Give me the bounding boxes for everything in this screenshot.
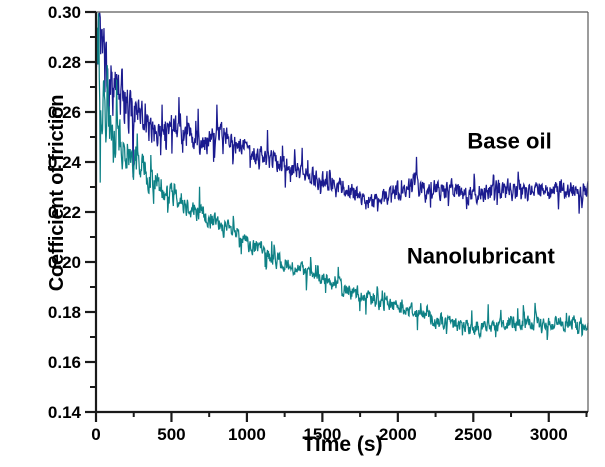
tick-label-layer: 0.140.160.180.200.220.240.260.280.300500…	[48, 3, 568, 444]
series-label-base-oil: Base oil	[467, 128, 551, 153]
x-tick-label: 2000	[379, 425, 417, 444]
y-tick-label: 0.20	[48, 253, 81, 272]
y-tick-label: 0.28	[48, 53, 81, 72]
axis-layer	[85, 12, 588, 422]
chart-svg: 0.140.160.180.200.220.240.260.280.300500…	[0, 0, 605, 467]
series-layer	[96, 13, 588, 340]
series-nanolubricant	[96, 13, 588, 340]
x-tick-label: 3000	[530, 425, 568, 444]
y-tick-label: 0.16	[48, 353, 81, 372]
figure-canvas: Coefficient of friction Time (s) 0.140.1…	[0, 0, 605, 467]
y-tick-label: 0.30	[48, 3, 81, 22]
x-tick-label: 1000	[228, 425, 266, 444]
y-tick-label: 0.24	[48, 153, 82, 172]
series-label-nanolubricant: Nanolubricant	[407, 243, 556, 268]
y-tick-label: 0.26	[48, 103, 81, 122]
plot-area: 0.140.160.180.200.220.240.260.280.300500…	[0, 0, 605, 467]
series-base-oil	[96, 13, 588, 213]
x-tick-label: 0	[91, 425, 100, 444]
y-tick-label: 0.18	[48, 303, 81, 322]
x-tick-label: 1500	[303, 425, 341, 444]
x-tick-label: 500	[157, 425, 185, 444]
y-tick-label: 0.22	[48, 203, 81, 222]
y-tick-label: 0.14	[48, 403, 82, 422]
x-tick-label: 2500	[454, 425, 492, 444]
